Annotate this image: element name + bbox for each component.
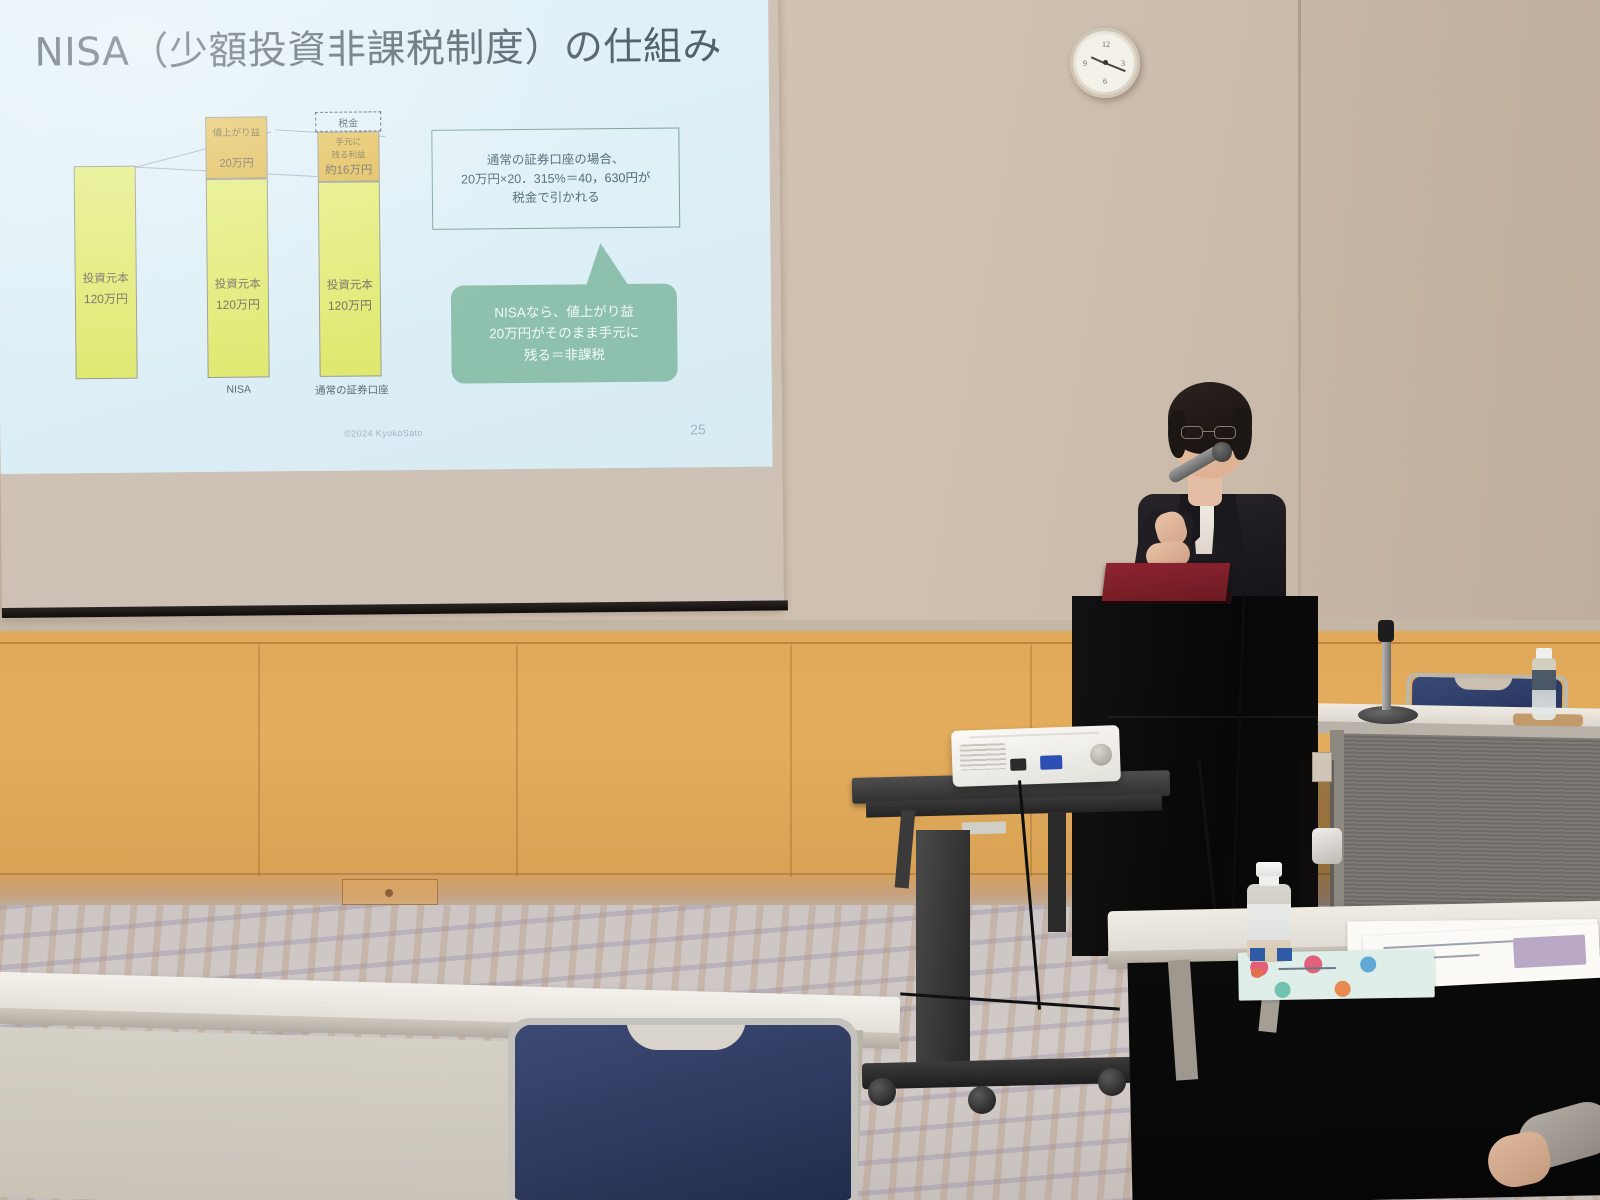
bar-3-net-gain-label-line1: 手元に (318, 136, 378, 147)
clock-numeral-12: 12 (1102, 40, 1110, 49)
callout-line-3: 残る＝非課税 (524, 344, 605, 366)
seminar-room-photo: 12 3 6 9 NISA（少額投資非課税制度）の仕組み 投資元本 (0, 0, 1600, 1200)
bar-3-net-gain-amount: 約16万円 (319, 163, 379, 178)
nisa-benefit-callout: NISAなら、値上がり益 20万円がそのまま手元に 残る＝非課税 (451, 283, 678, 383)
glasses-lens-right (1214, 426, 1236, 439)
bar-2-principal: 投資元本 120万円 (206, 178, 270, 378)
wall-access-panel (342, 879, 438, 905)
slide-page-number: 25 (690, 421, 706, 437)
bar-3-net-gain: 手元に 残る利益 約16万円 (317, 131, 379, 182)
bar-2-gain-amount: 20万円 (207, 157, 267, 171)
tax-explanation-line-1: 通常の証券口座の場合、 (487, 149, 625, 169)
projector-port (1010, 758, 1026, 771)
microphone-stand-pole (1382, 638, 1391, 710)
clock-numeral-9: 9 (1083, 59, 1087, 68)
bar-3-net-gain-label-line2: 残る利益 (318, 149, 378, 160)
clock-center-pin (1103, 60, 1108, 65)
tax-box-label: 税金 (338, 114, 358, 129)
bottle-label-dot (1251, 968, 1263, 978)
callout-line-1: NISAなら、値上がり益 (494, 301, 634, 323)
av-cart-rear-column (1048, 812, 1066, 932)
wall-clock: 12 3 6 9 (1070, 28, 1140, 98)
bar-1-principal-label: 投資元本 (76, 272, 136, 287)
bar-1-principal: 投資元本 120万円 (74, 166, 138, 380)
wainscot-seam (516, 645, 518, 877)
audience-palm (1483, 1128, 1554, 1192)
bottle-label (1247, 904, 1291, 940)
bar-2-category-label: NISA (208, 383, 270, 396)
av-cart-caster (1098, 1068, 1126, 1096)
lectern-seam (1108, 716, 1318, 718)
chair-foreground (508, 1010, 858, 1200)
wall-corner-edge (1298, 0, 1301, 640)
tax-dashed-box: 税金 (315, 111, 381, 132)
bar-3-principal: 投資元本 120万円 (318, 181, 382, 377)
wainscot-seam (258, 645, 260, 877)
bottle-cap (1256, 862, 1282, 877)
audience-hand (1470, 1090, 1600, 1200)
presenter-glasses (1181, 426, 1239, 439)
projector-seam (969, 732, 1099, 738)
clock-numeral-3: 3 (1121, 59, 1125, 68)
shoe-under-table (1312, 828, 1342, 864)
glasses-lens-left (1181, 426, 1203, 439)
side-wall (1301, 0, 1600, 648)
bar-3-category-label: 通常の証券口座 (306, 382, 398, 398)
bar-1-principal-amount: 120万円 (76, 292, 136, 307)
back-right-table-modesty-panel (1338, 733, 1600, 920)
bar-3-principal-amount: 120万円 (320, 298, 380, 313)
chair-chrome-frame (508, 1018, 858, 1200)
projected-slide: NISA（少額投資非課税制度）の仕組み 投資元本 120万円 値上がり益 20万… (0, 0, 773, 474)
bottle-label-mark (1277, 948, 1292, 961)
bar-3-principal-label: 投資元本 (320, 278, 380, 293)
water-bottle-front (1245, 862, 1293, 962)
tax-explanation-line-3: 税金で引かれる (512, 188, 600, 208)
projector-vent (960, 743, 1007, 771)
microphone-head (1212, 442, 1232, 462)
front-left-table-under (0, 1026, 532, 1200)
projection-screen: NISA（少額投資非課税制度）の仕組み 投資元本 120万円 値上がり益 20万… (0, 0, 784, 622)
wainscot-seam (790, 645, 792, 877)
callout-tail (584, 243, 630, 289)
projector-lens (1090, 743, 1113, 766)
projector-vga-port (1040, 755, 1062, 770)
water-bottle-back (1531, 648, 1557, 720)
av-cart-column (916, 830, 970, 1070)
bottle-label (1532, 670, 1556, 690)
floor-outlet (1312, 752, 1332, 782)
microphone-stand-clip (1378, 620, 1394, 642)
glasses-bridge (1203, 431, 1214, 432)
av-cart-caster (868, 1078, 896, 1106)
lectern-reading-surface (1102, 563, 1231, 601)
bottle-label-mark (1250, 948, 1265, 961)
bar-2-gain-label: 値上がり益 (206, 127, 266, 139)
bar-2-principal-amount: 120万円 (208, 297, 268, 312)
bar-2-principal-label: 投資元本 (208, 277, 268, 292)
clock-numeral-6: 6 (1103, 77, 1107, 86)
bar-2-gain: 値上がり益 20万円 (205, 116, 268, 179)
wainscot-top-trim (0, 642, 1600, 644)
callout-line-2: 20万円がそのまま手元に (489, 322, 639, 344)
slide-copyright: ©2024 KyokoSato (344, 428, 423, 439)
slide-title: NISA（少額投資非課税制度）の仕組み (34, 15, 722, 78)
tax-explanation-line-2: 20万円×20．315%＝40，630円が (461, 168, 651, 189)
av-cart-caster (968, 1086, 996, 1114)
stacked-bar-chart: 投資元本 120万円 値上がり益 20万円 投資元本 120万円 NISA 税金 (57, 110, 460, 404)
clock-face: 12 3 6 9 (1076, 34, 1134, 92)
projector (951, 725, 1121, 787)
tax-explanation-box: 通常の証券口座の場合、 20万円×20．315%＝40，630円が 税金で引かれ… (431, 127, 680, 229)
